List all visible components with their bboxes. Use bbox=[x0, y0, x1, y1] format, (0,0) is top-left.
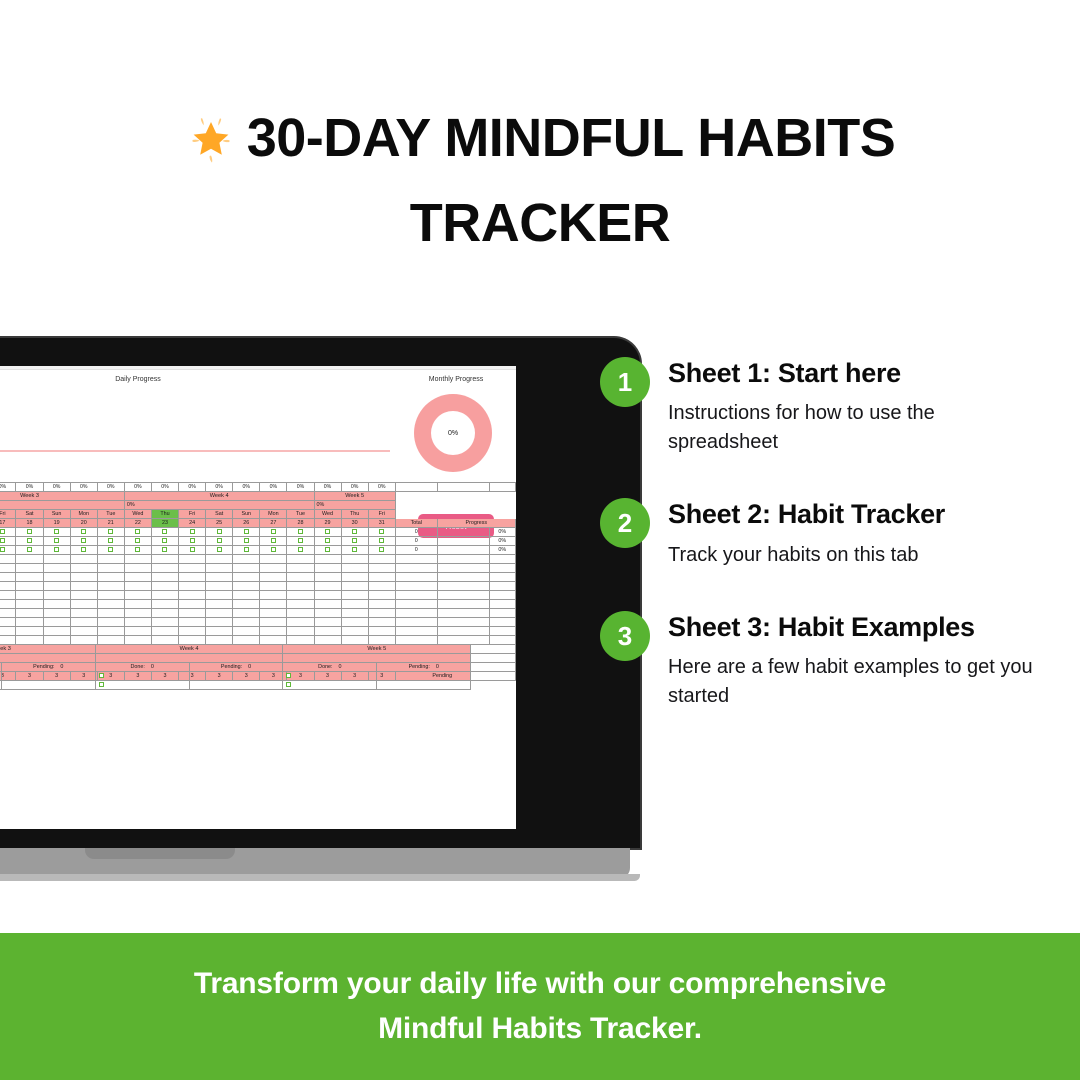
habit-checkbox-cell[interactable] bbox=[287, 537, 314, 546]
empty-cell[interactable] bbox=[233, 564, 260, 573]
habit-checkbox-cell[interactable] bbox=[70, 528, 97, 537]
empty-cell[interactable] bbox=[489, 609, 515, 618]
empty-cell[interactable] bbox=[489, 600, 515, 609]
empty-cell[interactable] bbox=[260, 609, 287, 618]
empty-cell[interactable] bbox=[97, 591, 124, 600]
day-name-cell[interactable]: Fri bbox=[179, 510, 206, 519]
empty-cell[interactable] bbox=[70, 555, 97, 564]
checkbox-icon[interactable] bbox=[244, 547, 249, 552]
empty-cell[interactable] bbox=[124, 600, 151, 609]
empty-cell[interactable] bbox=[179, 582, 206, 591]
empty-cell[interactable] bbox=[368, 564, 395, 573]
empty-cell[interactable] bbox=[437, 627, 489, 636]
empty-cell[interactable] bbox=[124, 627, 151, 636]
day-name-cell[interactable]: Wed bbox=[314, 510, 341, 519]
empty-cell[interactable] bbox=[124, 555, 151, 564]
day-number-cell[interactable]: 30 bbox=[341, 519, 368, 528]
empty-cell[interactable] bbox=[70, 618, 97, 627]
empty-cell[interactable] bbox=[97, 600, 124, 609]
day-number-cell[interactable]: 27 bbox=[260, 519, 287, 528]
habit-checkbox-cell[interactable] bbox=[97, 546, 124, 555]
empty-cell[interactable] bbox=[233, 609, 260, 618]
day-number-cell[interactable]: 17 bbox=[0, 519, 16, 528]
empty-cell[interactable] bbox=[489, 555, 515, 564]
checkbox-icon[interactable] bbox=[54, 547, 59, 552]
habit-checkbox-cell[interactable] bbox=[206, 528, 233, 537]
empty-cell[interactable] bbox=[43, 591, 70, 600]
checkbox-icon[interactable] bbox=[0, 538, 5, 543]
empty-cell[interactable] bbox=[179, 618, 206, 627]
empty-cell[interactable] bbox=[368, 582, 395, 591]
habit-checkbox-cell[interactable] bbox=[314, 537, 341, 546]
empty-cell[interactable] bbox=[287, 573, 314, 582]
empty-cell[interactable] bbox=[179, 609, 206, 618]
empty-cell[interactable] bbox=[16, 600, 43, 609]
empty-cell[interactable] bbox=[43, 573, 70, 582]
habit-checkbox-cell[interactable] bbox=[70, 537, 97, 546]
empty-cell[interactable] bbox=[43, 609, 70, 618]
empty-cell[interactable] bbox=[16, 555, 43, 564]
empty-row[interactable] bbox=[0, 582, 515, 591]
checkbox-icon[interactable] bbox=[81, 538, 86, 543]
empty-cell[interactable] bbox=[124, 582, 151, 591]
empty-cell[interactable] bbox=[437, 564, 489, 573]
day-number-cell[interactable]: 26 bbox=[233, 519, 260, 528]
empty-cell[interactable] bbox=[314, 618, 341, 627]
empty-cell[interactable] bbox=[233, 591, 260, 600]
empty-cell[interactable] bbox=[43, 627, 70, 636]
empty-cell[interactable] bbox=[368, 627, 395, 636]
habit-checkbox-cell[interactable] bbox=[287, 528, 314, 537]
checkbox-icon[interactable] bbox=[108, 547, 113, 552]
empty-cell[interactable] bbox=[341, 573, 368, 582]
checkbox-icon[interactable] bbox=[108, 529, 113, 534]
empty-cell[interactable] bbox=[43, 600, 70, 609]
empty-cell[interactable] bbox=[395, 618, 437, 627]
bottom-empty-cell[interactable] bbox=[189, 672, 283, 681]
checkbox-icon[interactable] bbox=[27, 547, 32, 552]
empty-cell[interactable] bbox=[287, 609, 314, 618]
empty-cell[interactable] bbox=[0, 564, 16, 573]
checkbox-icon[interactable] bbox=[325, 529, 330, 534]
empty-cell[interactable] bbox=[260, 582, 287, 591]
empty-row[interactable] bbox=[0, 609, 515, 618]
empty-cell[interactable] bbox=[0, 618, 16, 627]
day-name-cell[interactable]: Sat bbox=[206, 510, 233, 519]
habit-checkbox-cell[interactable] bbox=[0, 537, 16, 546]
empty-cell[interactable] bbox=[0, 591, 16, 600]
empty-cell[interactable] bbox=[287, 591, 314, 600]
checkbox-icon[interactable] bbox=[379, 547, 384, 552]
habit-checkbox-cell[interactable] bbox=[260, 537, 287, 546]
empty-cell[interactable] bbox=[16, 582, 43, 591]
checkbox-icon[interactable] bbox=[108, 538, 113, 543]
empty-cell[interactable] bbox=[287, 564, 314, 573]
empty-row[interactable] bbox=[0, 555, 515, 564]
checkbox-icon[interactable] bbox=[271, 538, 276, 543]
empty-cell[interactable] bbox=[233, 618, 260, 627]
bottom-empty-cell[interactable] bbox=[377, 681, 471, 690]
checkbox-icon[interactable] bbox=[352, 538, 357, 543]
habit-checkbox-cell[interactable] bbox=[151, 546, 178, 555]
checkbox-icon[interactable] bbox=[325, 538, 330, 543]
checkbox-icon[interactable] bbox=[352, 529, 357, 534]
day-number-cell[interactable]: 21 bbox=[97, 519, 124, 528]
empty-cell[interactable] bbox=[341, 582, 368, 591]
empty-row[interactable] bbox=[0, 627, 515, 636]
empty-cell[interactable] bbox=[43, 555, 70, 564]
empty-cell[interactable] bbox=[368, 618, 395, 627]
habit-checkbox-cell[interactable] bbox=[43, 528, 70, 537]
empty-cell[interactable] bbox=[206, 573, 233, 582]
empty-cell[interactable] bbox=[395, 600, 437, 609]
empty-cell[interactable] bbox=[151, 582, 178, 591]
checkbox-icon[interactable] bbox=[244, 538, 249, 543]
empty-cell[interactable] bbox=[43, 618, 70, 627]
bottom-empty-cell[interactable] bbox=[189, 681, 283, 690]
empty-cell[interactable] bbox=[341, 591, 368, 600]
empty-cell[interactable] bbox=[151, 618, 178, 627]
empty-cell[interactable] bbox=[97, 573, 124, 582]
checkbox-icon[interactable] bbox=[271, 547, 276, 552]
empty-cell[interactable] bbox=[151, 573, 178, 582]
empty-cell[interactable] bbox=[314, 591, 341, 600]
empty-cell[interactable] bbox=[179, 555, 206, 564]
empty-cell[interactable] bbox=[233, 582, 260, 591]
empty-cell[interactable] bbox=[368, 600, 395, 609]
empty-cell[interactable] bbox=[206, 582, 233, 591]
empty-cell[interactable] bbox=[97, 582, 124, 591]
checkbox-icon[interactable] bbox=[286, 673, 291, 678]
habit-checkbox-cell[interactable] bbox=[151, 537, 178, 546]
empty-cell[interactable] bbox=[287, 555, 314, 564]
empty-cell[interactable] bbox=[70, 609, 97, 618]
empty-cell[interactable] bbox=[489, 627, 515, 636]
checkbox-icon[interactable] bbox=[27, 538, 32, 543]
empty-cell[interactable] bbox=[314, 582, 341, 591]
empty-cell[interactable] bbox=[151, 600, 178, 609]
empty-cell[interactable] bbox=[314, 627, 341, 636]
checkbox-icon[interactable] bbox=[325, 547, 330, 552]
checkbox-icon[interactable] bbox=[298, 529, 303, 534]
bottom-checkbox-cell[interactable] bbox=[283, 681, 377, 690]
empty-cell[interactable] bbox=[43, 564, 70, 573]
checkbox-icon[interactable] bbox=[271, 529, 276, 534]
empty-cell[interactable] bbox=[16, 564, 43, 573]
empty-cell[interactable] bbox=[97, 564, 124, 573]
day-name-cell[interactable]: Thu bbox=[341, 510, 368, 519]
empty-cell[interactable] bbox=[437, 591, 489, 600]
empty-cell[interactable] bbox=[368, 591, 395, 600]
empty-cell[interactable] bbox=[395, 555, 437, 564]
empty-cell[interactable] bbox=[314, 600, 341, 609]
checkbox-icon[interactable] bbox=[99, 682, 104, 687]
habit-checkbox-cell[interactable] bbox=[233, 528, 260, 537]
habit-checkbox-cell[interactable] bbox=[314, 546, 341, 555]
checkbox-icon[interactable] bbox=[135, 538, 140, 543]
empty-cell[interactable] bbox=[341, 609, 368, 618]
empty-cell[interactable] bbox=[0, 627, 16, 636]
day-number-cell[interactable]: 28 bbox=[287, 519, 314, 528]
habit-checkbox-cell[interactable] bbox=[260, 528, 287, 537]
empty-row[interactable] bbox=[0, 564, 515, 573]
empty-cell[interactable] bbox=[368, 555, 395, 564]
day-name-cell[interactable]: Fri bbox=[368, 510, 395, 519]
checkbox-icon[interactable] bbox=[379, 529, 384, 534]
empty-cell[interactable] bbox=[179, 564, 206, 573]
empty-cell[interactable] bbox=[124, 591, 151, 600]
empty-cell[interactable] bbox=[70, 582, 97, 591]
empty-cell[interactable] bbox=[179, 600, 206, 609]
empty-cell[interactable] bbox=[314, 564, 341, 573]
habit-checkbox-cell[interactable] bbox=[43, 537, 70, 546]
empty-cell[interactable] bbox=[151, 555, 178, 564]
empty-cell[interactable] bbox=[260, 564, 287, 573]
empty-cell[interactable] bbox=[437, 582, 489, 591]
checkbox-icon[interactable] bbox=[352, 547, 357, 552]
checkbox-icon[interactable] bbox=[298, 547, 303, 552]
day-name-cell[interactable]: Sun bbox=[233, 510, 260, 519]
habit-checkbox-cell[interactable] bbox=[287, 546, 314, 555]
bottom-empty-cell[interactable] bbox=[377, 672, 471, 681]
habit-checkbox-cell[interactable] bbox=[179, 546, 206, 555]
empty-cell[interactable] bbox=[489, 618, 515, 627]
empty-cell[interactable] bbox=[206, 618, 233, 627]
empty-cell[interactable] bbox=[206, 555, 233, 564]
empty-cell[interactable] bbox=[233, 627, 260, 636]
empty-cell[interactable] bbox=[233, 573, 260, 582]
day-number-cell[interactable]: 29 bbox=[314, 519, 341, 528]
empty-cell[interactable] bbox=[0, 555, 16, 564]
empty-cell[interactable] bbox=[489, 564, 515, 573]
empty-cell[interactable] bbox=[70, 600, 97, 609]
day-number-cell[interactable]: 20 bbox=[70, 519, 97, 528]
empty-cell[interactable] bbox=[260, 627, 287, 636]
empty-cell[interactable] bbox=[0, 582, 16, 591]
empty-cell[interactable] bbox=[206, 600, 233, 609]
day-name-cell[interactable]: Tue bbox=[287, 510, 314, 519]
empty-cell[interactable] bbox=[489, 591, 515, 600]
habit-checkbox-cell[interactable] bbox=[206, 546, 233, 555]
empty-cell[interactable] bbox=[151, 591, 178, 600]
empty-cell[interactable] bbox=[124, 609, 151, 618]
empty-cell[interactable] bbox=[314, 555, 341, 564]
empty-cell[interactable] bbox=[151, 564, 178, 573]
habit-checkbox-cell[interactable] bbox=[124, 528, 151, 537]
empty-cell[interactable] bbox=[260, 600, 287, 609]
checkbox-icon[interactable] bbox=[27, 529, 32, 534]
checkbox-icon[interactable] bbox=[298, 538, 303, 543]
empty-cell[interactable] bbox=[206, 627, 233, 636]
empty-cell[interactable] bbox=[97, 555, 124, 564]
empty-cell[interactable] bbox=[395, 591, 437, 600]
habit-checkbox-cell[interactable] bbox=[179, 537, 206, 546]
empty-row[interactable] bbox=[0, 618, 515, 627]
habit-checkbox-cell[interactable] bbox=[124, 546, 151, 555]
checkbox-icon[interactable] bbox=[99, 673, 104, 678]
empty-cell[interactable] bbox=[341, 555, 368, 564]
day-number-cell[interactable]: 22 bbox=[124, 519, 151, 528]
bottom-checkbox-cell[interactable] bbox=[283, 672, 377, 681]
empty-cell[interactable] bbox=[16, 618, 43, 627]
day-number-cell[interactable]: 23 bbox=[151, 519, 178, 528]
empty-cell[interactable] bbox=[70, 564, 97, 573]
day-name-cell[interactable]: Fri bbox=[0, 510, 16, 519]
day-number-cell[interactable]: 31 bbox=[368, 519, 395, 528]
day-number-cell[interactable]: 24 bbox=[179, 519, 206, 528]
habit-checkbox-cell[interactable] bbox=[97, 528, 124, 537]
bottom-empty-cell[interactable] bbox=[1, 681, 95, 690]
day-name-cell[interactable]: Sun bbox=[43, 510, 70, 519]
day-number-cell[interactable]: 19 bbox=[43, 519, 70, 528]
empty-cell[interactable] bbox=[437, 618, 489, 627]
day-name-cell[interactable]: Wed bbox=[124, 510, 151, 519]
empty-cell[interactable] bbox=[260, 555, 287, 564]
checkbox-icon[interactable] bbox=[162, 547, 167, 552]
empty-cell[interactable] bbox=[179, 627, 206, 636]
empty-cell[interactable] bbox=[70, 591, 97, 600]
empty-cell[interactable] bbox=[287, 627, 314, 636]
checkbox-icon[interactable] bbox=[190, 547, 195, 552]
day-number-cell[interactable]: 18 bbox=[16, 519, 43, 528]
day-name-cell[interactable]: Tue bbox=[97, 510, 124, 519]
habit-checkbox-cell[interactable] bbox=[206, 537, 233, 546]
empty-cell[interactable] bbox=[97, 627, 124, 636]
checkbox-icon[interactable] bbox=[135, 547, 140, 552]
empty-cell[interactable] bbox=[437, 600, 489, 609]
empty-cell[interactable] bbox=[314, 609, 341, 618]
empty-cell[interactable] bbox=[314, 573, 341, 582]
empty-cell[interactable] bbox=[395, 627, 437, 636]
empty-cell[interactable] bbox=[179, 573, 206, 582]
habit-checkbox-cell[interactable] bbox=[43, 546, 70, 555]
empty-cell[interactable] bbox=[179, 591, 206, 600]
checkbox-icon[interactable] bbox=[190, 538, 195, 543]
empty-cell[interactable] bbox=[70, 573, 97, 582]
empty-cell[interactable] bbox=[97, 609, 124, 618]
empty-cell[interactable] bbox=[233, 555, 260, 564]
checkbox-icon[interactable] bbox=[217, 538, 222, 543]
empty-cell[interactable] bbox=[260, 573, 287, 582]
habit-checkbox-cell[interactable] bbox=[341, 528, 368, 537]
empty-cell[interactable] bbox=[16, 609, 43, 618]
empty-cell[interactable] bbox=[287, 618, 314, 627]
empty-row[interactable] bbox=[0, 573, 515, 582]
empty-cell[interactable] bbox=[395, 609, 437, 618]
empty-cell[interactable] bbox=[16, 591, 43, 600]
empty-cell[interactable] bbox=[97, 618, 124, 627]
empty-cell[interactable] bbox=[368, 609, 395, 618]
empty-cell[interactable] bbox=[206, 609, 233, 618]
habit-checkbox-cell[interactable] bbox=[233, 537, 260, 546]
habit-checkbox-cell[interactable] bbox=[70, 546, 97, 555]
empty-cell[interactable] bbox=[70, 627, 97, 636]
empty-row[interactable] bbox=[0, 600, 515, 609]
habit-checkbox-cell[interactable] bbox=[368, 546, 395, 555]
checkbox-icon[interactable] bbox=[81, 529, 86, 534]
checkbox-icon[interactable] bbox=[217, 547, 222, 552]
checkbox-icon[interactable] bbox=[162, 529, 167, 534]
habit-checkbox-cell[interactable] bbox=[0, 546, 16, 555]
checkbox-icon[interactable] bbox=[0, 547, 5, 552]
empty-cell[interactable] bbox=[287, 582, 314, 591]
habit-checkbox-cell[interactable] bbox=[0, 528, 16, 537]
day-number-cell[interactable]: 25 bbox=[206, 519, 233, 528]
checkbox-icon[interactable] bbox=[54, 538, 59, 543]
habit-checkbox-cell[interactable] bbox=[368, 528, 395, 537]
empty-cell[interactable] bbox=[124, 618, 151, 627]
checkbox-icon[interactable] bbox=[81, 547, 86, 552]
empty-cell[interactable] bbox=[151, 609, 178, 618]
day-name-cell[interactable]: Mon bbox=[70, 510, 97, 519]
empty-cell[interactable] bbox=[233, 600, 260, 609]
empty-cell[interactable] bbox=[489, 573, 515, 582]
empty-cell[interactable] bbox=[368, 573, 395, 582]
checkbox-icon[interactable] bbox=[135, 529, 140, 534]
habit-checkbox-cell[interactable] bbox=[179, 528, 206, 537]
empty-cell[interactable] bbox=[16, 627, 43, 636]
day-name-cell[interactable]: Thu bbox=[151, 510, 178, 519]
empty-cell[interactable] bbox=[395, 573, 437, 582]
checkbox-icon[interactable] bbox=[244, 529, 249, 534]
checkbox-icon[interactable] bbox=[0, 529, 5, 534]
checkbox-icon[interactable] bbox=[54, 529, 59, 534]
checkbox-icon[interactable] bbox=[286, 682, 291, 687]
empty-cell[interactable] bbox=[151, 627, 178, 636]
empty-cell[interactable] bbox=[206, 591, 233, 600]
empty-cell[interactable] bbox=[287, 600, 314, 609]
habit-checkbox-cell[interactable] bbox=[260, 546, 287, 555]
empty-cell[interactable] bbox=[437, 609, 489, 618]
empty-cell[interactable] bbox=[260, 591, 287, 600]
bottom-checkbox-cell[interactable] bbox=[95, 672, 189, 681]
empty-cell[interactable] bbox=[437, 573, 489, 582]
habit-checkbox-cell[interactable] bbox=[16, 546, 43, 555]
empty-cell[interactable] bbox=[260, 618, 287, 627]
empty-cell[interactable] bbox=[437, 555, 489, 564]
empty-cell[interactable] bbox=[16, 573, 43, 582]
habit-checkbox-cell[interactable] bbox=[16, 537, 43, 546]
day-name-cell[interactable]: Mon bbox=[260, 510, 287, 519]
habit-checkbox-cell[interactable] bbox=[124, 537, 151, 546]
empty-cell[interactable] bbox=[489, 582, 515, 591]
habit-checkbox-cell[interactable] bbox=[97, 537, 124, 546]
empty-cell[interactable] bbox=[124, 573, 151, 582]
empty-cell[interactable] bbox=[43, 582, 70, 591]
habit-checkbox-cell[interactable] bbox=[341, 546, 368, 555]
habit-checkbox-cell[interactable] bbox=[314, 528, 341, 537]
empty-cell[interactable] bbox=[341, 618, 368, 627]
empty-cell[interactable] bbox=[395, 582, 437, 591]
day-name-cell[interactable]: Sat bbox=[16, 510, 43, 519]
empty-cell[interactable] bbox=[341, 600, 368, 609]
habit-checkbox-cell[interactable] bbox=[368, 537, 395, 546]
bottom-checkbox-cell[interactable] bbox=[95, 681, 189, 690]
empty-cell[interactable] bbox=[124, 564, 151, 573]
empty-cell[interactable] bbox=[341, 564, 368, 573]
checkbox-icon[interactable] bbox=[162, 538, 167, 543]
empty-cell[interactable] bbox=[341, 627, 368, 636]
bottom-empty-cell[interactable] bbox=[1, 672, 95, 681]
habit-checkbox-cell[interactable] bbox=[233, 546, 260, 555]
empty-row[interactable] bbox=[0, 591, 515, 600]
empty-cell[interactable] bbox=[0, 573, 16, 582]
empty-cell[interactable] bbox=[0, 600, 16, 609]
checkbox-icon[interactable] bbox=[217, 529, 222, 534]
checkbox-icon[interactable] bbox=[190, 529, 195, 534]
habit-checkbox-cell[interactable] bbox=[341, 537, 368, 546]
empty-cell[interactable] bbox=[206, 564, 233, 573]
